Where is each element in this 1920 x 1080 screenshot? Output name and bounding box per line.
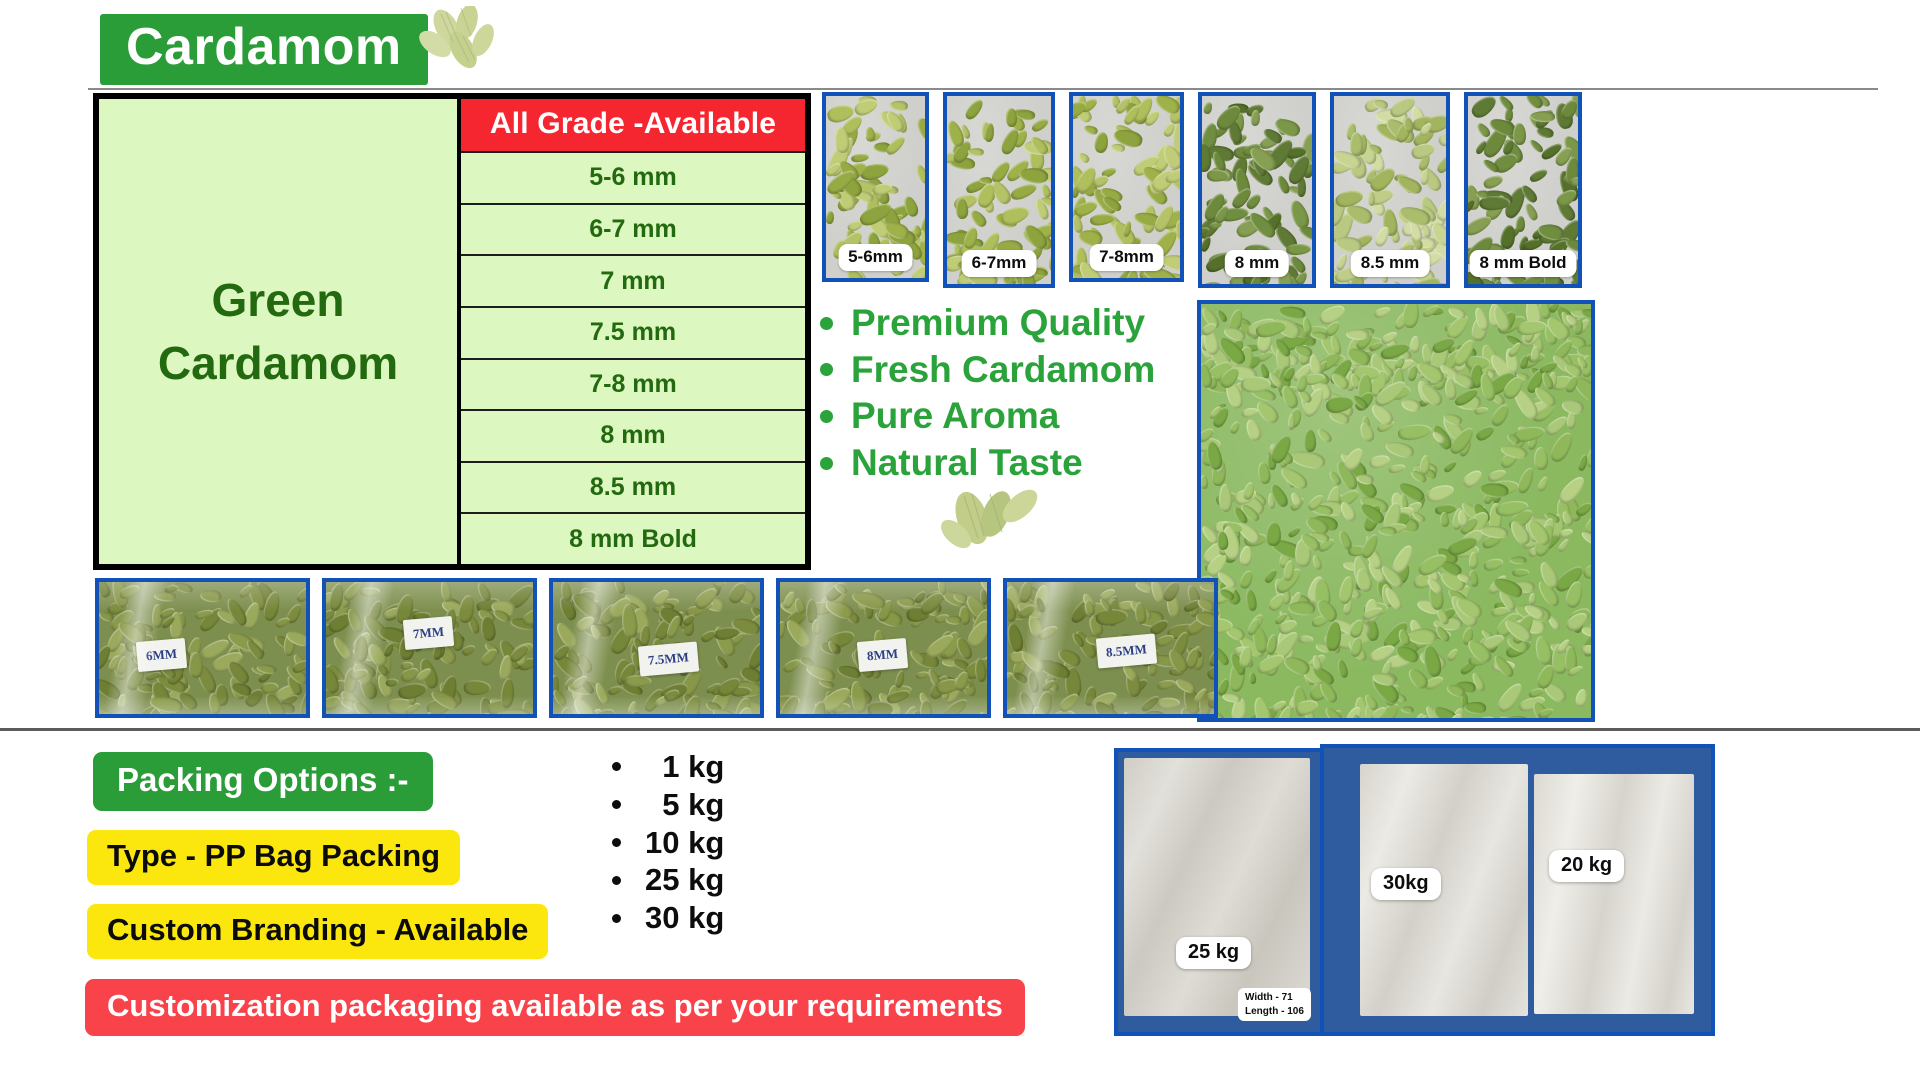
packet-label: 8.5MM [1096, 633, 1157, 668]
customization-note: Customization packaging available as per… [85, 979, 1025, 1036]
grade-row: 7-8 mm [461, 358, 805, 410]
bullet-icon [612, 800, 621, 809]
grade-photo: 7-8mm [1069, 92, 1184, 282]
grade-photo-label: 8 mm Bold [1470, 250, 1577, 277]
packing-options-title: Packing Options :- [93, 752, 433, 811]
packet-photo: 7MM [322, 578, 537, 718]
grade-left-line1: Green [158, 269, 398, 331]
weight-item: 5 kg [612, 786, 724, 824]
bullet-icon [820, 457, 833, 470]
packet-photo: 7.5MM [549, 578, 764, 718]
sack-shape [1534, 774, 1694, 1014]
grade-photo: 5-6mm [822, 92, 929, 282]
weight-item: 1 kg [612, 748, 724, 786]
grade-table: Green Cardamom All Grade -Available 5-6 … [93, 93, 811, 570]
grade-photo: 8.5 mm [1330, 92, 1450, 288]
poster-root: Cardamom Green Cardamom All Grade -Avail… [0, 0, 1920, 1080]
bag-photo-pair: 30kg 20 kg [1320, 744, 1715, 1036]
grade-photo: 8 mm [1198, 92, 1316, 288]
bag-weight-label: 25 kg [1176, 937, 1251, 969]
bag-weight-label: 30kg [1371, 868, 1441, 900]
hero-cardamom-photo [1197, 300, 1595, 722]
bullet-icon [612, 914, 621, 923]
weight-label: 25 kg [645, 861, 724, 899]
bag-dimensions: Width - 71 Length - 106 [1238, 988, 1311, 1021]
packing-type-badge: Type - PP Bag Packing [87, 830, 460, 885]
weight-item: 10 kg [612, 824, 724, 862]
grade-photo: 8 mm Bold [1464, 92, 1582, 288]
bullet-icon [820, 317, 833, 330]
weight-label: 30 kg [645, 899, 724, 937]
packet-label: 8MM [857, 638, 908, 672]
weight-label: 5 kg [645, 786, 724, 824]
packet-label: 7MM [403, 616, 454, 650]
bullet-icon [820, 363, 833, 376]
cardamom-pods-icon [405, 6, 515, 78]
feature-label: Fresh Cardamom [851, 347, 1155, 394]
grade-row: 6-7 mm [461, 203, 805, 255]
bullet-icon [612, 876, 621, 885]
bag-weight-label: 20 kg [1549, 850, 1624, 882]
grade-row: 7 mm [461, 254, 805, 306]
weight-label: 1 kg [645, 748, 724, 786]
packet-photo: 6MM [95, 578, 310, 718]
packet-label: 6MM [136, 638, 187, 672]
grade-row: 5-6 mm [461, 151, 805, 203]
features-list: Premium Quality Fresh Cardamom Pure Arom… [820, 300, 1155, 486]
cardamom-pods-decor-icon [920, 478, 1065, 560]
grade-photo-label: 6-7mm [962, 250, 1037, 277]
packet-photo: 8.5MM [1003, 578, 1218, 718]
bullet-icon [820, 410, 833, 423]
grade-photo: 6-7mm [943, 92, 1055, 288]
weight-item: 25 kg [612, 861, 724, 899]
grade-row: 7.5 mm [461, 306, 805, 358]
bullet-icon [612, 762, 621, 771]
grade-photo-label: 7-8mm [1089, 244, 1164, 271]
header-divider [88, 88, 1878, 90]
section-divider [0, 728, 1920, 731]
grade-table-left-cell: Green Cardamom [99, 99, 461, 564]
sack-shape [1124, 758, 1310, 1016]
packet-label: 7.5MM [638, 641, 699, 676]
grade-photo-label: 5-6mm [838, 244, 913, 271]
page-title: Cardamom [100, 14, 428, 85]
packet-photo-strip: 6MM 7MM 7.5MM 8MM 8.5MM [95, 578, 1218, 718]
feature-item: Pure Aroma [820, 393, 1155, 440]
grade-row: 8 mm Bold [461, 512, 805, 564]
weight-options-list: 1 kg 5 kg 10 kg 25 kg 30 kg [612, 748, 724, 937]
bag-dim-width: Width - 71 [1245, 991, 1304, 1005]
feature-label: Premium Quality [851, 300, 1145, 347]
custom-branding-badge: Custom Branding - Available [87, 904, 548, 959]
feature-item: Fresh Cardamom [820, 347, 1155, 394]
grade-table-header: All Grade -Available [461, 99, 805, 151]
seed-texture [1201, 304, 1591, 718]
weight-label: 10 kg [645, 824, 724, 862]
grade-photo-strip: 5-6mm 6-7mm 7-8mm 8 mm 8.5 mm 8 mm Bold [822, 92, 1582, 288]
bag-dim-length: Length - 106 [1245, 1005, 1304, 1019]
grade-table-left-label: Green Cardamom [158, 269, 398, 393]
seed-texture [99, 582, 306, 714]
grade-photo-label: 8.5 mm [1351, 250, 1430, 277]
feature-label: Pure Aroma [851, 393, 1059, 440]
grade-table-rows: All Grade -Available 5-6 mm 6-7 mm 7 mm … [461, 99, 805, 564]
grade-photo-label: 8 mm [1225, 250, 1289, 277]
grade-row: 8 mm [461, 409, 805, 461]
feature-item: Premium Quality [820, 300, 1155, 347]
grade-left-line2: Cardamom [158, 332, 398, 394]
grade-row: 8.5 mm [461, 461, 805, 513]
seed-texture [326, 582, 533, 714]
bullet-icon [612, 838, 621, 847]
weight-item: 30 kg [612, 899, 724, 937]
bag-photo-25kg: 25 kg Width - 71 Length - 106 [1114, 748, 1324, 1036]
packet-photo: 8MM [776, 578, 991, 718]
